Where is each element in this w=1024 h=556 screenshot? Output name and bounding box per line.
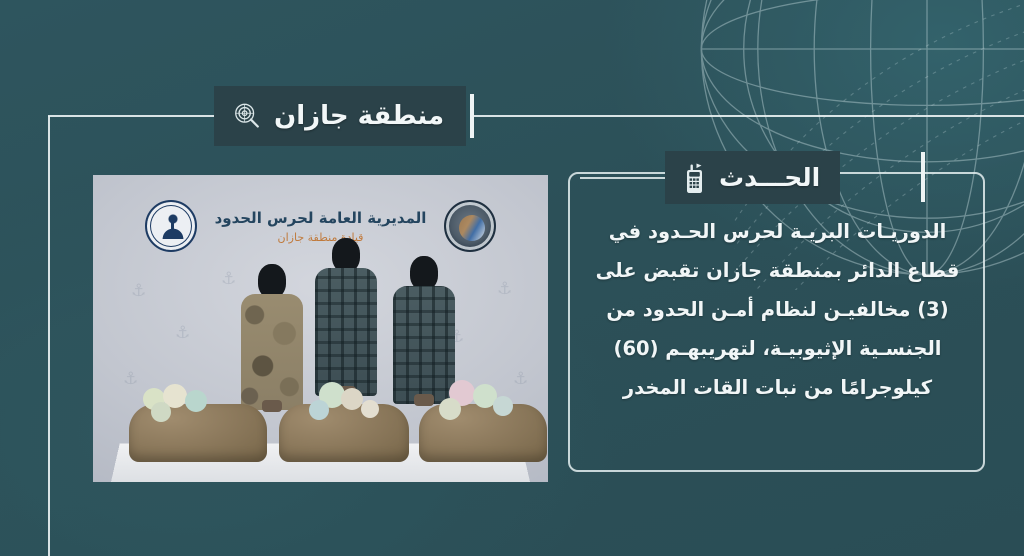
poster-canvas: منطقة جازان ⚓ ⚓ ⚓ ⚓ ⚓ ⚓ ⚓ ⚓ ⚓ ⚓ [0,0,1024,556]
wall-watermark: ⚓ [513,371,528,388]
detainee-hands [414,394,434,406]
detainee-hands [262,400,282,412]
event-text-line: كيلوجرامًا من نبات القات المخدر [580,368,975,407]
event-text-line: قطاع الدائر بمنطقة جازان تقبض على [580,251,975,290]
seized-sack [419,404,547,462]
event-text-line: (3) مخالفيـن لنظام أمـن الحدود من [580,290,975,329]
detainee-head [258,264,286,298]
region-badge-tick [470,94,474,138]
region-badge: منطقة جازان [214,86,466,146]
seized-sack [279,404,409,462]
detainee-figure [315,238,377,396]
event-text-line: الدوريـات البريـة لحرس الحـدود في [580,212,975,251]
wall-watermark: ⚓ [131,283,146,300]
border-guard-emblem-icon [444,200,496,252]
event-text: الدوريـات البريـة لحرس الحـدود في قطاع ا… [580,212,975,407]
wall-watermark: ⚓ [123,371,138,388]
detainee-head [410,256,438,290]
wall-watermark: ⚓ [497,281,512,298]
detainee-figure [393,256,455,404]
detainee-torso [393,286,455,404]
event-badge-tick [921,152,925,202]
region-badge-label: منطقة جازان [274,103,444,129]
khat-bundle [361,400,379,418]
wall-watermark: ⚓ [221,271,236,288]
khat-bundle [185,390,207,412]
khat-bundle [309,400,329,420]
frame-top-rail-right [472,115,1024,117]
photo-banner-title: المديرية العامة لحرس الحدود [215,209,427,227]
frame-top-rail-left [48,115,216,117]
detainee-head [332,238,360,272]
event-badge-label: الحـــدث [719,165,820,190]
saudi-national-emblem-icon [145,200,197,252]
khat-bundle [151,402,171,422]
wall-watermark: ⚓ [175,325,190,342]
event-text-line: الجنسـية الإثيوبيـة، لتهريبهـم (60) [580,329,975,368]
magnifier-emblem-icon [232,101,262,131]
event-badge: الحـــدث [665,151,840,204]
khat-bundle [439,398,461,420]
walkie-talkie-icon [681,161,707,195]
khat-bundle [341,388,363,410]
detainee-torso [315,268,377,396]
detainee-figure [241,264,303,410]
evidence-photo: ⚓ ⚓ ⚓ ⚓ ⚓ ⚓ ⚓ ⚓ ⚓ ⚓ المديرية العامة لحرس… [93,175,548,482]
frame-left-rail [48,116,50,556]
seized-sack [129,404,267,462]
detainee-torso [241,294,303,410]
khat-bundle [493,396,513,416]
